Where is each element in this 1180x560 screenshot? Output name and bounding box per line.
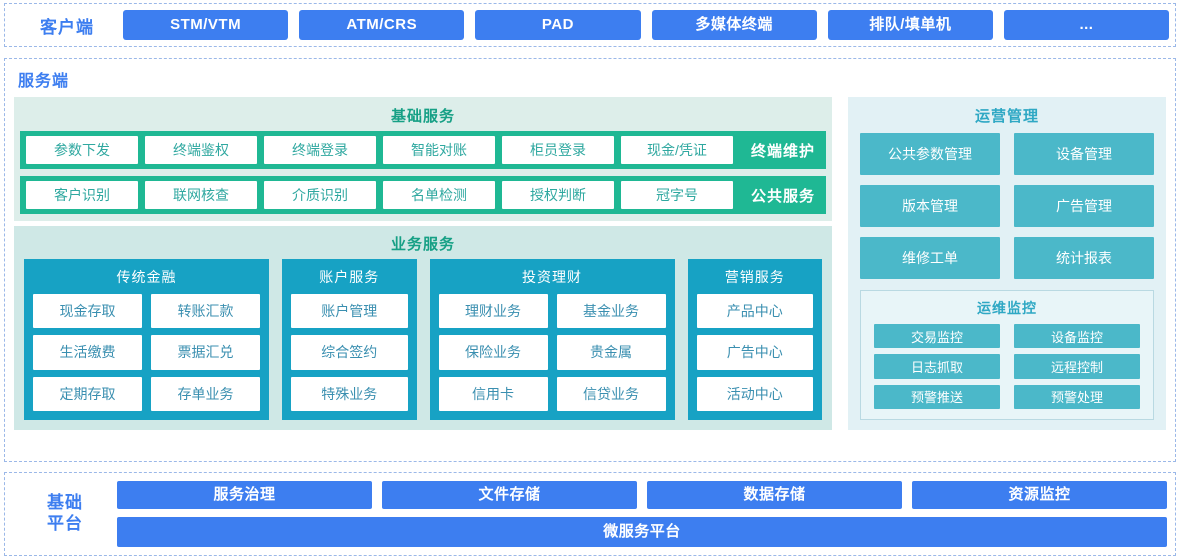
basic-row-tag-terminal-maintenance: 终端维护 xyxy=(740,140,826,161)
ops-tile-statistics-report[interactable]: 统计报表 xyxy=(1014,237,1154,279)
biz-chip-activity-center[interactable]: 活动中心 xyxy=(697,377,813,411)
monitoring-title: 运维监控 xyxy=(874,295,1140,324)
biz-chip-account-management[interactable]: 账户管理 xyxy=(291,294,407,328)
operations-panel: 运营管理 公共参数管理 设备管理 版本管理 广告管理 维修工单 统计报表 运维监… xyxy=(848,97,1166,430)
basic-chip-teller-login[interactable]: 柜员登录 xyxy=(502,136,614,164)
business-column-investment: 投资理财 理财业务 基金业务 保险业务 贵金属 信用卡 信贷业务 xyxy=(430,259,675,420)
basic-chip-customer-id[interactable]: 客户识别 xyxy=(26,181,138,209)
biz-chip-time-deposit[interactable]: 定期存取 xyxy=(33,377,142,411)
basic-services-title: 基础服务 xyxy=(20,102,826,131)
business-column-title-account-service: 账户服务 xyxy=(291,264,407,294)
client-item-pad[interactable]: PAD xyxy=(475,10,640,40)
platform-item-microservice-platform[interactable]: 微服务平台 xyxy=(117,517,1167,547)
biz-chip-transfer-remittance[interactable]: 转账汇款 xyxy=(151,294,260,328)
basic-chip-cash-voucher[interactable]: 现金/凭证 xyxy=(621,136,733,164)
basic-chip-param-dispatch[interactable]: 参数下发 xyxy=(26,136,138,164)
business-column-marketing: 营销服务 产品中心 广告中心 活动中心 xyxy=(688,259,822,420)
basic-chip-online-check[interactable]: 联网核查 xyxy=(145,181,257,209)
biz-chip-insurance[interactable]: 保险业务 xyxy=(439,335,548,369)
biz-chip-wealth-management[interactable]: 理财业务 xyxy=(439,294,548,328)
basic-chip-terminal-auth[interactable]: 终端鉴权 xyxy=(145,136,257,164)
basic-chip-serial-number[interactable]: 冠字号 xyxy=(621,181,733,209)
client-tier: 客户端 STM/VTM ATM/CRS PAD 多媒体终端 排队/填单机 ... xyxy=(4,3,1176,47)
mon-tile-log-capture[interactable]: 日志抓取 xyxy=(874,354,1000,378)
operations-tiles: 公共参数管理 设备管理 版本管理 广告管理 维修工单 统计报表 xyxy=(860,133,1154,279)
mon-tile-transaction-monitoring[interactable]: 交易监控 xyxy=(874,324,1000,348)
client-item-stm-vtm[interactable]: STM/VTM xyxy=(123,10,288,40)
business-services-title: 业务服务 xyxy=(20,230,826,259)
basic-chip-list-check[interactable]: 名单检测 xyxy=(383,181,495,209)
monitoring-panel: 运维监控 交易监控 设备监控 日志抓取 远程控制 预警推送 预警处理 xyxy=(860,290,1154,420)
business-column-traditional-finance: 传统金融 现金存取 转账汇款 生活缴费 票据汇兑 定期存取 存单业务 xyxy=(24,259,269,420)
basic-row-tag-public-service: 公共服务 xyxy=(740,185,826,206)
business-services-columns: 传统金融 现金存取 转账汇款 生活缴费 票据汇兑 定期存取 存单业务 xyxy=(20,259,826,422)
platform-item-service-governance[interactable]: 服务治理 xyxy=(117,481,372,509)
biz-chip-special-business[interactable]: 特殊业务 xyxy=(291,377,407,411)
platform-tier-label-line1: 基础 xyxy=(13,493,117,514)
client-item-more[interactable]: ... xyxy=(1004,10,1169,40)
server-left-column: 基础服务 参数下发 终端鉴权 终端登录 智能对账 柜员登录 现金/凭证 终端维护… xyxy=(14,97,832,430)
biz-chip-credit-card[interactable]: 信用卡 xyxy=(439,377,548,411)
basic-chip-terminal-login[interactable]: 终端登录 xyxy=(264,136,376,164)
business-services-panel: 业务服务 传统金融 现金存取 转账汇款 生活缴费 票据汇兑 定期存取 存单业务 xyxy=(14,226,832,430)
platform-tier-label: 基础 平台 xyxy=(13,493,117,534)
basic-services-row-terminal: 参数下发 终端鉴权 终端登录 智能对账 柜员登录 现金/凭证 终端维护 xyxy=(20,131,826,169)
business-column-title-traditional-finance: 传统金融 xyxy=(33,264,260,294)
platform-item-resource-monitor[interactable]: 资源监控 xyxy=(912,481,1167,509)
ops-tile-public-param-management[interactable]: 公共参数管理 xyxy=(860,133,1000,175)
basic-services-panel: 基础服务 参数下发 终端鉴权 终端登录 智能对账 柜员登录 现金/凭证 终端维护… xyxy=(14,97,832,221)
biz-chip-bill-exchange[interactable]: 票据汇兑 xyxy=(151,335,260,369)
basic-services-row-public: 客户识别 联网核查 介质识别 名单检测 授权判断 冠字号 公共服务 xyxy=(20,176,826,214)
biz-chip-integrated-signing[interactable]: 综合签约 xyxy=(291,335,407,369)
operations-title: 运营管理 xyxy=(860,102,1154,133)
basic-chip-auth-decision[interactable]: 授权判断 xyxy=(502,181,614,209)
ops-tile-ad-management[interactable]: 广告管理 xyxy=(1014,185,1154,227)
ops-tile-repair-work-order[interactable]: 维修工单 xyxy=(860,237,1000,279)
server-tier-label: 服务端 xyxy=(18,67,1166,91)
mon-tile-alert-handling[interactable]: 预警处理 xyxy=(1014,385,1140,409)
biz-chip-living-payment[interactable]: 生活缴费 xyxy=(33,335,142,369)
business-column-title-marketing: 营销服务 xyxy=(697,264,813,294)
server-tier: 服务端 基础服务 参数下发 终端鉴权 终端登录 智能对账 柜员登录 现金/凭证 … xyxy=(4,58,1176,462)
mon-tile-device-monitoring[interactable]: 设备监控 xyxy=(1014,324,1140,348)
platform-item-file-storage[interactable]: 文件存储 xyxy=(382,481,637,509)
platform-tier-row: 服务治理 文件存储 数据存储 资源监控 xyxy=(117,481,1167,509)
client-tier-items: STM/VTM ATM/CRS PAD 多媒体终端 排队/填单机 ... xyxy=(123,10,1169,40)
basic-chip-smart-reconcile[interactable]: 智能对账 xyxy=(383,136,495,164)
biz-chip-fund-business[interactable]: 基金业务 xyxy=(557,294,666,328)
business-column-account-service: 账户服务 账户管理 综合签约 特殊业务 xyxy=(282,259,416,420)
ops-tile-device-management[interactable]: 设备管理 xyxy=(1014,133,1154,175)
client-item-queue-form[interactable]: 排队/填单机 xyxy=(828,10,993,40)
platform-tier: 基础 平台 服务治理 文件存储 数据存储 资源监控 微服务平台 xyxy=(4,472,1176,556)
client-item-atm-crs[interactable]: ATM/CRS xyxy=(299,10,464,40)
platform-tier-label-line2: 平台 xyxy=(13,514,117,535)
business-column-title-investment: 投资理财 xyxy=(439,264,666,294)
basic-chip-media-id[interactable]: 介质识别 xyxy=(264,181,376,209)
platform-tier-content: 服务治理 文件存储 数据存储 资源监控 微服务平台 xyxy=(117,481,1167,547)
architecture-diagram: 客户端 STM/VTM ATM/CRS PAD 多媒体终端 排队/填单机 ...… xyxy=(0,0,1180,560)
biz-chip-loan-business[interactable]: 信贷业务 xyxy=(557,377,666,411)
ops-tile-version-management[interactable]: 版本管理 xyxy=(860,185,1000,227)
platform-item-data-storage[interactable]: 数据存储 xyxy=(647,481,902,509)
mon-tile-remote-control[interactable]: 远程控制 xyxy=(1014,354,1140,378)
monitoring-tiles: 交易监控 设备监控 日志抓取 远程控制 预警推送 预警处理 xyxy=(874,324,1140,409)
biz-chip-ad-center[interactable]: 广告中心 xyxy=(697,335,813,369)
mon-tile-alert-push[interactable]: 预警推送 xyxy=(874,385,1000,409)
biz-chip-certificate-deposit[interactable]: 存单业务 xyxy=(151,377,260,411)
server-tier-columns: 基础服务 参数下发 终端鉴权 终端登录 智能对账 柜员登录 现金/凭证 终端维护… xyxy=(14,97,1166,430)
biz-chip-product-center[interactable]: 产品中心 xyxy=(697,294,813,328)
client-item-multimedia[interactable]: 多媒体终端 xyxy=(652,10,817,40)
biz-chip-precious-metals[interactable]: 贵金属 xyxy=(557,335,666,369)
client-tier-label: 客户端 xyxy=(11,13,123,38)
biz-chip-cash-deposit-withdraw[interactable]: 现金存取 xyxy=(33,294,142,328)
